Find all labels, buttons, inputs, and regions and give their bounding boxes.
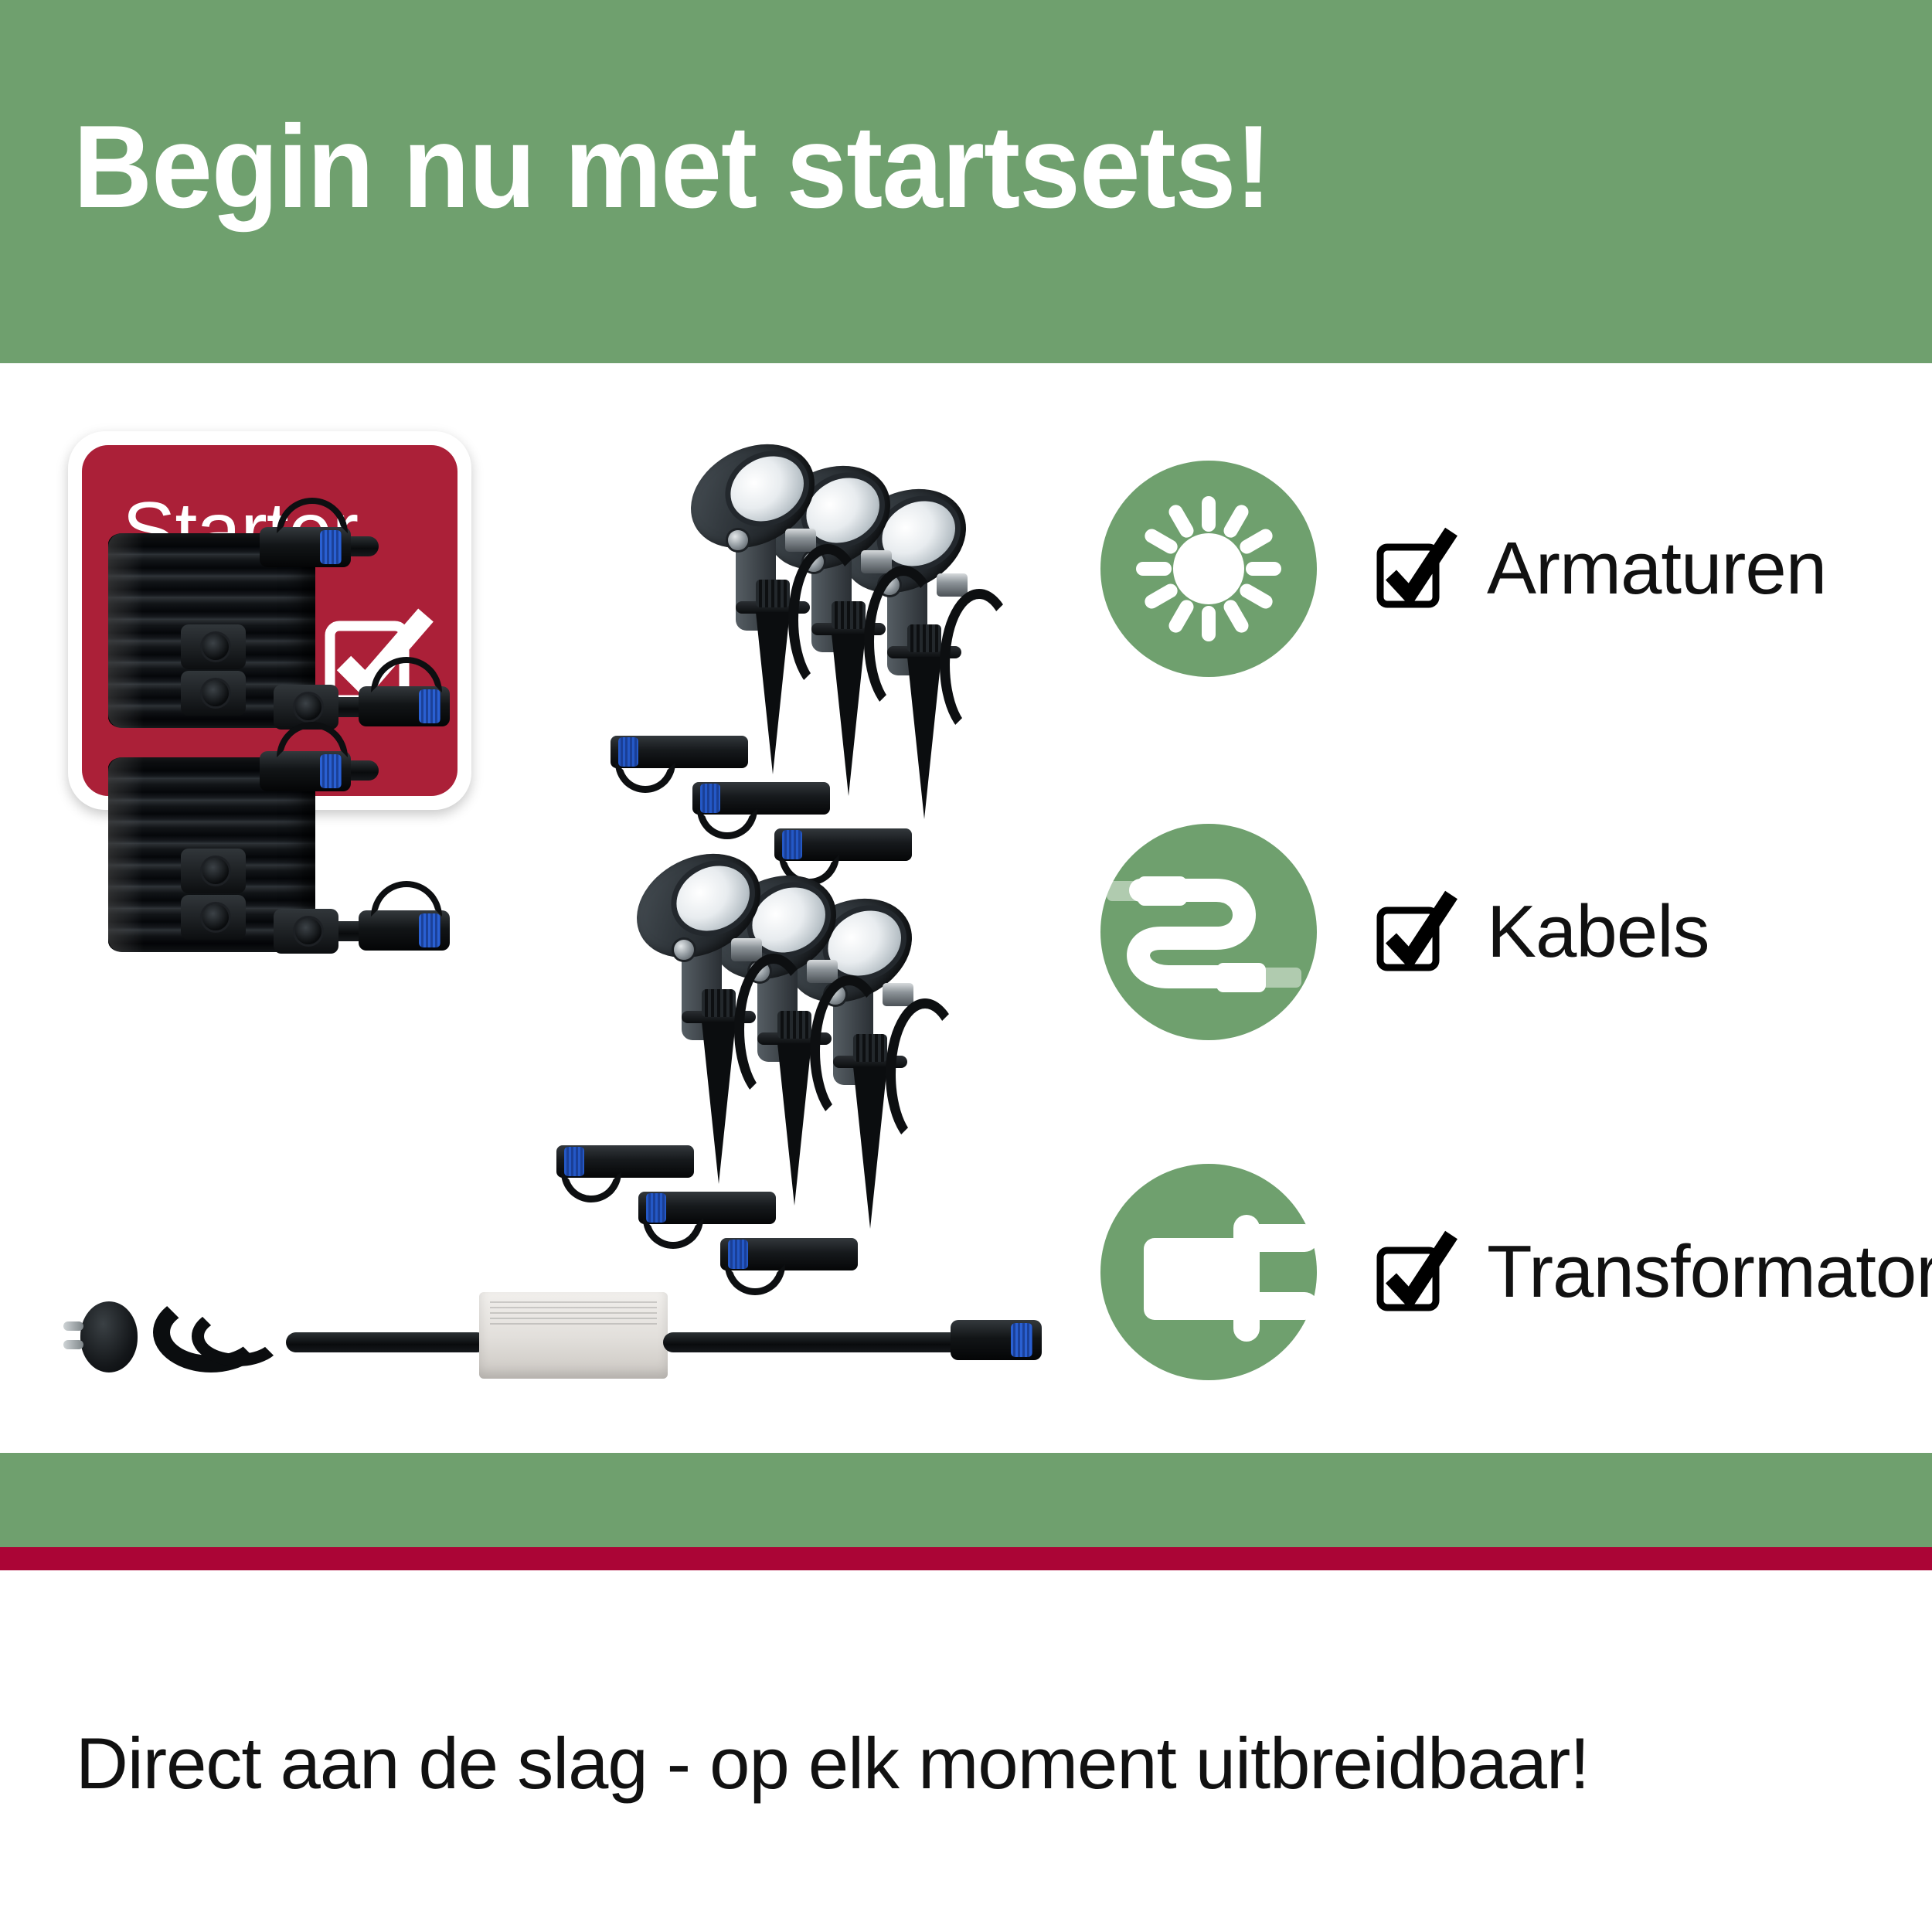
bottom-green-band [0,1453,1932,1547]
connector-loop [561,1172,621,1202]
bottom-red-band [0,1547,1932,1570]
spotlight-cable-collar [861,550,892,573]
spotlight-screw [728,530,748,550]
connector-blue-ring [419,913,440,947]
feature-item-armaturen: Armaturen [1100,461,1826,677]
power-cable-loop [192,1306,284,1366]
spotlight-cable [886,998,964,1150]
sun-core [1173,533,1244,604]
cable-coil-2 [108,742,572,974]
transformer-housing [479,1292,668,1379]
connector-blue-ring [320,754,342,788]
feature-label: Kabels [1487,889,1709,975]
connector-loop [371,657,442,692]
connector-loop [643,1218,703,1249]
cable-connector [720,1238,858,1270]
checkbox-checked-svg [1374,527,1458,611]
feature-label: Armaturen [1487,526,1826,611]
connector-loop [371,881,442,917]
t-connector [181,624,246,669]
cable-icon-svg [1100,824,1317,1040]
footer-tagline: Direct aan de slag - op elk moment uitbr… [76,1722,1589,1805]
feature-text-group: Armaturen [1374,526,1826,611]
spotlight-cable [864,566,943,717]
sun-ray [1142,581,1180,611]
connector-loop [615,762,675,793]
sun-ray [1166,502,1196,540]
feature-item-transformator: Transformator [1100,1164,1932,1380]
cable-coil-1 [108,518,572,750]
page-title: Begin nu met startsets! [73,108,1271,226]
cable-connector [556,1145,694,1178]
plug-prong-bottom [1257,1292,1318,1320]
sun-ray [1202,606,1216,641]
spotlight-cable-collar [807,960,838,983]
checkbox-checked-icon [1374,1230,1458,1314]
connector-blue-ring [1011,1323,1032,1357]
spotlight-screw [674,940,694,960]
sun-ray [1246,562,1281,576]
spotlight-group-bottom [634,858,958,1291]
feature-text-group: Transformator [1374,1230,1932,1315]
mains-plug [80,1301,138,1372]
power-cable-lead [286,1332,487,1352]
checkbox-checked-icon [1374,527,1458,611]
sun-ray [1221,502,1251,540]
connector-blue-ring [419,689,440,723]
plug-prong-top [1257,1224,1318,1252]
feature-text-group: Kabels [1374,889,1709,975]
spotlight-cable-collar [785,529,816,552]
spotlight-cable-collar [883,983,913,1006]
sun-ray [1221,597,1251,635]
plug-icon [1100,1164,1317,1380]
plug-body [1144,1238,1240,1320]
sun-ray [1136,562,1172,576]
spotlight-spike [756,612,790,774]
connector-blue-ring [320,530,342,564]
sun-ray [1237,581,1275,611]
sun-ray [1237,526,1275,556]
t-connector [274,909,338,954]
cable-connector [638,1192,776,1224]
connector-loop [277,498,348,533]
cable-connector [692,782,830,815]
spotlight-cable-collar [731,938,762,961]
t-connector [181,849,246,893]
checkbox-checked-icon [1374,890,1458,974]
spotlight-cable [810,975,889,1127]
spotlight-group-top [688,448,1012,881]
cable-connector [774,828,912,861]
product-photo-area [0,363,1082,1453]
cable-icon [1100,824,1317,1040]
checkbox-checked-svg [1374,890,1458,974]
spotlight-knurl [702,989,736,1017]
feature-item-kabels: Kabels [1100,824,1709,1040]
checkbox-checked-svg [1374,1230,1458,1314]
spotlight-cable [734,954,813,1105]
spotlight-knurl [756,580,790,607]
sun-icon [1100,461,1317,677]
connector-loop [697,808,757,839]
spotlight-cable [788,544,867,696]
t-connector [181,895,246,940]
spotlight-cable [940,589,1019,740]
plug-bar [1233,1215,1260,1342]
header-band: Begin nu met startsets! [0,0,1932,363]
transformer [62,1275,1036,1399]
sun-ray [1166,597,1196,635]
spotlight-spike [702,1022,736,1184]
sun-ray [1142,526,1180,556]
feature-list: Armaturen Kabels [1082,363,1932,1453]
spotlight-cable-collar [937,573,968,597]
sun-ray [1202,496,1216,532]
feature-label: Transformator [1487,1230,1932,1315]
output-plug-end [951,1320,1042,1360]
cable-connector [611,736,748,768]
t-connector [181,671,246,716]
